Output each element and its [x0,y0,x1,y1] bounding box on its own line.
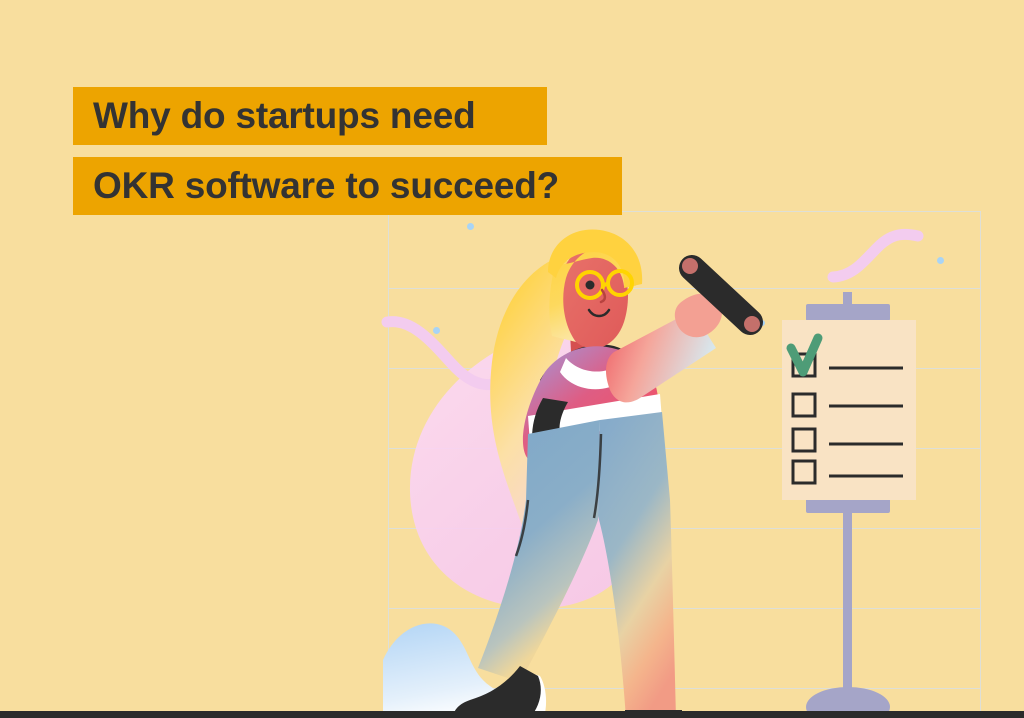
eye [586,281,595,290]
headline-line-1-text: Why do startups need [93,95,475,137]
pink-wave-right-decor [833,234,918,277]
slide-canvas: Why do startups need OKR software to suc… [0,0,1024,718]
headline-line-2-text: OKR software to succeed? [93,165,559,207]
headline-line-1: Why do startups need [73,87,547,145]
checklist-board[interactable] [782,320,916,500]
leg-right [598,412,676,718]
headline-line-2: OKR software to succeed? [73,157,622,215]
ground-line [0,711,1024,718]
